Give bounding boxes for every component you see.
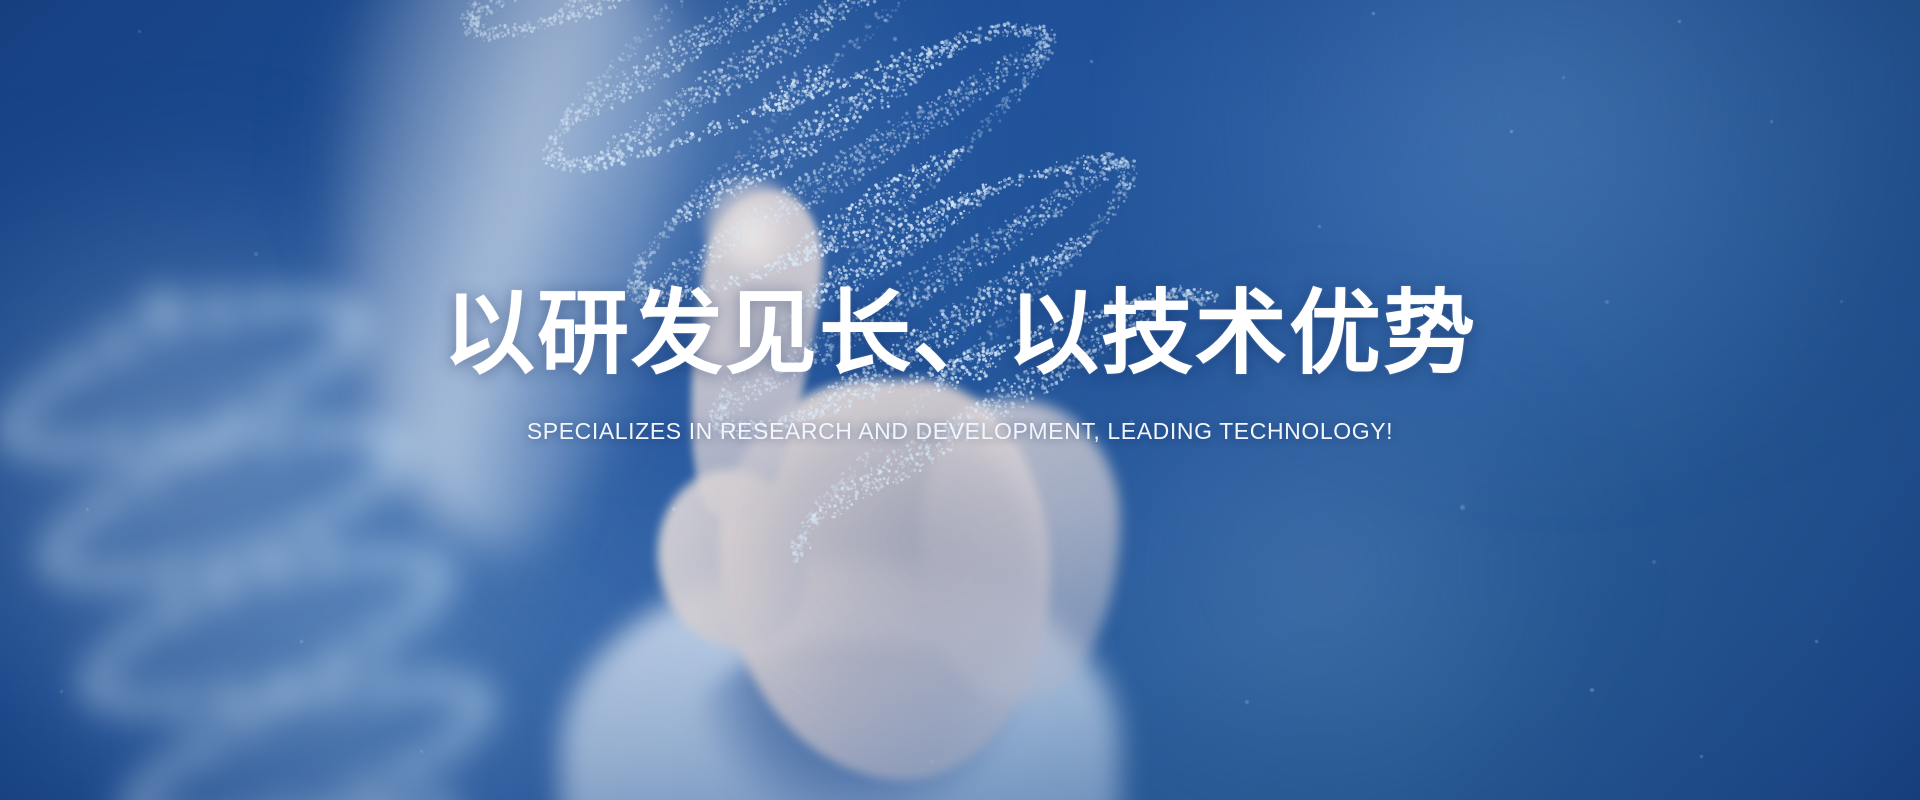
hero-copy-block: 以研发见长、以技术优势 SPECIALIZES IN RESEARCH AND … [0,286,1920,445]
dust-particle [672,507,676,511]
helix-node [394,652,462,720]
lab-coat-cuff-shadow [690,640,1020,800]
helix-node [346,599,418,671]
helix-node [375,733,449,800]
helix-node [352,777,429,800]
helix-node [227,516,305,594]
dust-particle [1700,755,1703,758]
helix-node [380,529,442,591]
dust-particle [300,640,303,643]
helix-node [87,540,158,611]
dust-particle [138,30,141,33]
helix-node [457,682,508,733]
helix-node [407,563,464,620]
helix-node [77,628,139,690]
helix-node [274,489,350,565]
helix-node [41,494,106,559]
dust-particle [1510,130,1513,133]
helix-node [69,666,117,714]
dust-particle [1678,20,1681,23]
dust-particle [60,690,63,693]
helix-node [53,543,116,606]
helix-node [183,530,261,608]
helix-node [167,709,241,783]
dust-particle [1090,60,1093,63]
helix-node [316,466,387,537]
dust-particle [1460,505,1465,510]
dust-particle [1815,640,1818,643]
background-dna-helix-icon [82,400,477,800]
helix-rung [136,559,378,644]
dust-particle [1245,700,1249,704]
light-bloom [0,170,540,730]
helix-rung [176,635,384,708]
helix-node [382,579,448,645]
helix-node [153,795,221,800]
helix-rung [144,688,463,798]
hand-knuckles [920,400,1120,700]
helix-node [403,777,475,800]
helix-node [101,602,171,672]
helix-node [238,526,316,604]
helix-rung [247,690,336,725]
light-bloom [60,560,620,800]
helix-node [180,544,258,622]
lab-coat-sleeve [560,560,1120,800]
helix-node [33,542,88,597]
dust-particle [1770,120,1773,123]
helix-node [418,553,466,601]
helix-node [454,670,505,721]
helix-node [255,651,334,730]
helix-node [66,650,119,703]
dust-particle [420,750,423,753]
helix-node [302,623,379,700]
helix-node [187,661,264,738]
helix-node [27,517,83,573]
helix-rung [93,577,444,697]
dust-particle [930,760,933,763]
helix-node [107,438,183,514]
dust-particle [1590,688,1594,692]
page-subtitle: SPECIALIZES IN RESEARCH AND DEVELOPMENT,… [0,418,1920,445]
helix-node [78,670,135,727]
helix-node [240,656,319,735]
helix-node [194,791,268,800]
helix-node [208,680,286,758]
helix-node [292,523,367,598]
helix-node [295,651,373,729]
dust-particle [1372,12,1375,15]
helix-node [27,537,74,584]
helix-node [282,786,361,800]
dust-particle [86,508,89,511]
helix-node [103,669,169,735]
helix-node [349,447,412,510]
dust-particle [1652,560,1656,564]
helix-rung [155,724,474,800]
thumb [634,451,832,669]
helix-node [136,574,211,649]
helix-node [407,539,460,592]
dust-particle [254,252,258,256]
helix-node [69,467,141,539]
dust-particle [1562,76,1565,79]
helix-rung [55,437,390,552]
helix-node [134,736,202,800]
helix-node [131,536,207,612]
helix-node [297,781,376,800]
dust-particle [893,37,897,41]
helix-node [107,783,158,800]
hand-shading [750,420,1040,720]
helix-node [330,758,408,800]
helix-node [442,694,502,754]
helix-node [430,658,490,718]
helix-rung [222,555,268,576]
helix-node [348,650,422,724]
page-title: 以研发见长、以技术优势 [0,286,1920,384]
helix-rung [281,797,370,800]
helix-rung [85,479,383,582]
fingertip [704,178,800,270]
hero-banner: 以研发见长、以技术优势 SPECIALIZES IN RESEARCH AND … [0,0,1920,800]
helix-node [243,786,321,800]
helix-node [413,711,481,779]
helix-node [140,666,212,738]
pointing-hand [600,170,1160,800]
helix-node [341,524,411,594]
helix-node [111,794,162,800]
helix-node [114,761,174,800]
dust-particle [1318,225,1321,228]
